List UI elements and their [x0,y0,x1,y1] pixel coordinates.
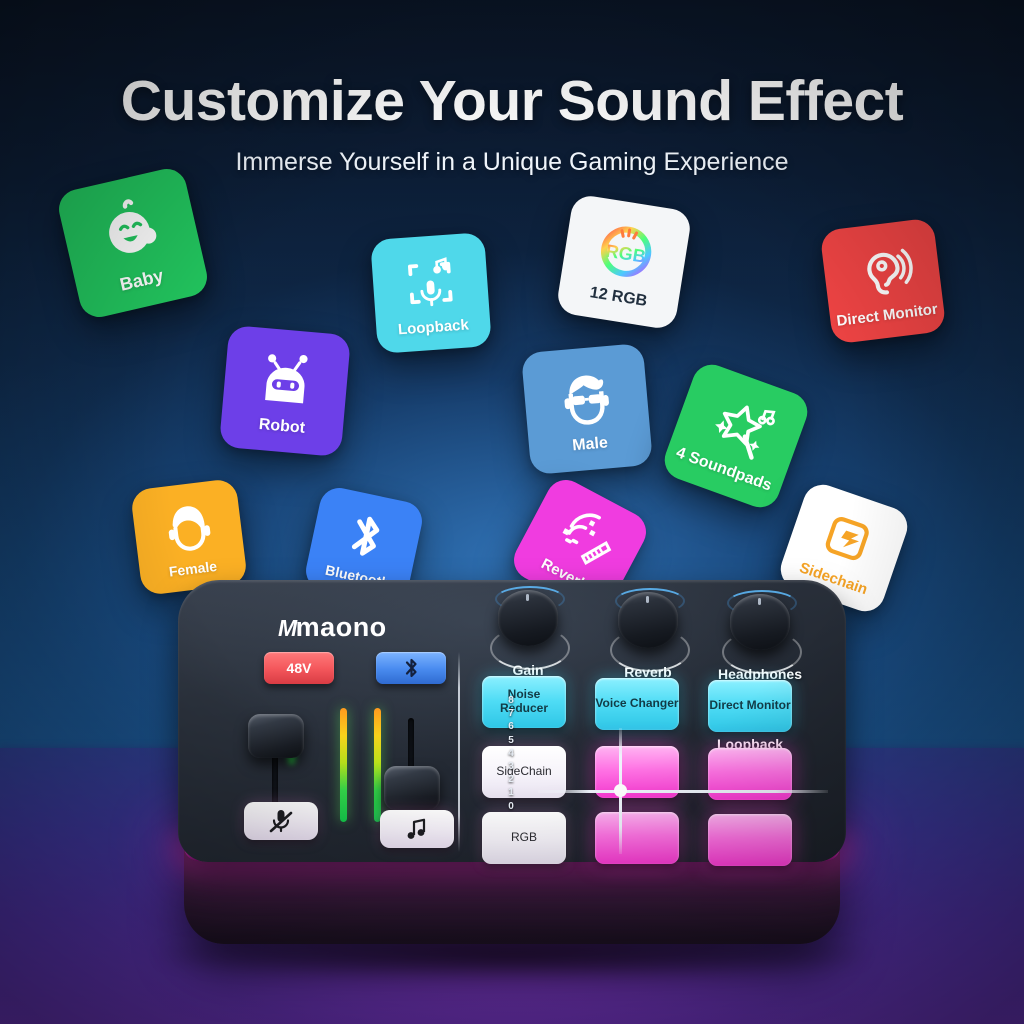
fader-scale-tick: 2 [508,773,514,786]
bluetooth-icon [332,502,401,571]
fader-scale-tick: 6 [508,720,514,733]
feature-card-label: Robot [258,416,306,438]
knob-ring-light [495,586,565,612]
feature-card-glyph [86,187,174,275]
button-mic-mute[interactable] [244,802,318,840]
feature-card-female[interactable]: Female [130,478,248,596]
knob-gain[interactable]: Gain [492,590,564,662]
fader-scale: 876543210 [500,694,522,813]
female-face-icon [155,494,221,560]
feature-card-glyph [249,343,323,417]
fader-scale-tick: 1 [508,786,514,799]
button-voice-changer[interactable]: Voice Changer [595,678,679,730]
feature-card-glyph [155,494,221,560]
fader-cap[interactable] [384,766,440,810]
feature-card-12-rgb[interactable]: RGB12 RGB [555,193,692,330]
promo-banner: Customize Your Sound Effect Immerse Your… [0,0,1024,1024]
phantom-power-button[interactable]: 48V [264,652,334,684]
svg-text:RGB: RGB [604,240,647,266]
ear-icon [846,235,917,306]
fader-scale-tick: 4 [508,747,514,760]
baby-face-icon [86,187,174,275]
level-meter-right [374,708,381,822]
feature-card-glyph [396,248,464,316]
feature-card-label: Loopback [397,316,469,338]
button-music[interactable] [380,810,454,848]
soundpad-4[interactable] [708,814,792,866]
knob-ring-light [727,590,797,616]
soundpad-3[interactable] [595,812,679,864]
knob-indicator [646,596,649,603]
feature-card-direct-monitor[interactable]: Direct Monitor [819,217,946,344]
fader-scale-tick: 8 [508,694,514,707]
brand-logo: Mmaono [278,612,387,643]
rgb-ring-icon: RGB [587,213,664,290]
feature-card-glyph [846,235,917,306]
feature-card-glyph: RGB [587,213,664,290]
feature-card-label: Baby [118,265,166,295]
pad-crosshair-horizontal [538,790,828,793]
feature-card-label: 12 RGB [588,284,648,311]
robot-head-icon [249,343,323,417]
knob-headphones[interactable]: Headphones [724,594,796,666]
feature-card-male[interactable]: Male [521,343,653,475]
feature-card-label: Male [572,434,609,455]
mic-mute-icon [267,808,295,834]
knob-ring-light [615,588,685,614]
male-face-icon [549,361,623,435]
feature-card-loopback[interactable]: Loopback [370,232,492,354]
bluetooth-icon [403,657,420,679]
button-noise-reducer[interactable]: Noise Reducer [482,676,566,728]
fader-scale-tick: 7 [508,707,514,720]
audio-mixer-device: Mmaono 48V Gain R [178,580,846,950]
button-direct-monitor[interactable]: Direct Monitor [708,680,792,732]
fader-scale-tick: 0 [508,800,514,813]
knob-indicator [758,598,761,605]
button-rgb[interactable]: RGB [482,812,566,864]
music-note-icon [403,816,431,842]
knob-indicator [526,594,529,601]
fader-scale-tick: 5 [508,734,514,747]
fader-cap[interactable] [248,714,304,758]
bluetooth-button[interactable] [376,652,446,684]
brand-name: maono [296,612,387,642]
feature-card-glyph [332,502,401,571]
feature-card-robot[interactable]: Robot [219,325,351,457]
feature-card-glyph [549,361,623,435]
panel-divider [458,652,460,852]
device-top-panel: Mmaono 48V Gain R [178,580,846,862]
knob-reverb[interactable]: Reverb [612,592,684,664]
page-title: Customize Your Sound Effect [0,68,1024,134]
fader-scale-tick: 3 [508,760,514,773]
pad-crosshair-center [614,784,627,797]
feature-card-label: Female [168,557,218,579]
feature-card-label: Direct Monitor [836,300,939,329]
level-meter-left [340,708,347,822]
loopback-icon [396,248,464,316]
